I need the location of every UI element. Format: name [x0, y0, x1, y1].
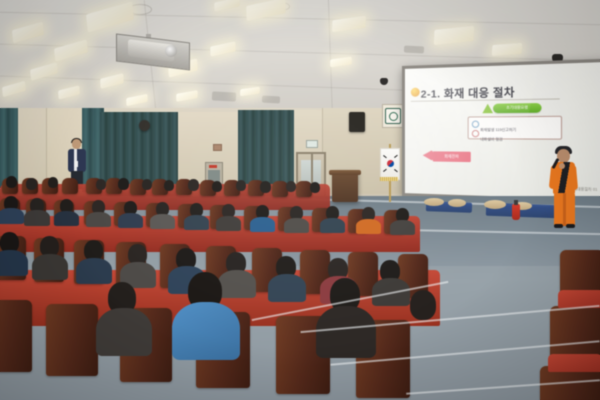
ceiling-spotlight: [380, 78, 388, 85]
ceiling-light-panel: [176, 90, 198, 102]
slide-bullet-box: 화재발생 119신고하기 내화설비 점검: [468, 116, 562, 140]
wall-outlet: [213, 144, 222, 151]
ceiling-light-panel: [58, 85, 80, 99]
ceiling-light-panel: [434, 26, 474, 45]
slide-bullet-item: 내화설비 점검: [469, 127, 561, 137]
slide-bullet-icon: [411, 88, 420, 97]
cpr-manikin: [484, 200, 506, 209]
attendee-torso: [316, 306, 376, 358]
korean-flag-icon: [380, 148, 400, 180]
attendee-torso: [96, 308, 152, 356]
ceiling-light-panel: [2, 81, 26, 98]
bullet-dot-icon: [472, 130, 479, 137]
ceiling-light-panel: [240, 87, 260, 97]
wall-speaker: [139, 120, 150, 131]
presenter-shoe: [554, 224, 563, 228]
taeguk-symbol-icon: [387, 160, 394, 167]
ceiling-light-panel: [126, 94, 148, 107]
presenter-hand: [559, 163, 565, 169]
extinguisher-nozzle-icon: [514, 200, 518, 205]
seating-right-block: [430, 250, 600, 400]
flag-fringe: [380, 177, 398, 181]
ceiling-light-panel: [100, 73, 124, 89]
ceiling-projector: [116, 34, 188, 68]
fire-extinguisher: [512, 204, 520, 220]
slide-bullet-text: 내화설비 점검: [480, 137, 502, 141]
attendee-torso: [172, 302, 240, 360]
presenter-uniform-legs: [554, 193, 575, 226]
slide-green-label-text: 초기대응요령: [493, 103, 541, 113]
ceiling-light-panel: [214, 0, 240, 12]
ceiling-light-panel: [210, 41, 236, 57]
arrow-callout-body: 화재전파: [433, 151, 471, 162]
arrow-callout-text: 화재전파: [433, 151, 471, 162]
auditorium-photo: 2 2-1. 화재 대응 절차 초기대응요령 화재발생 119신고하기 내화설비…: [0, 0, 600, 400]
ceiling-light-panel: [330, 56, 352, 67]
presenter-head: [557, 149, 570, 163]
warning-triangle-icon: [482, 104, 493, 114]
wall-speaker: [349, 112, 365, 132]
institution-emblem-icon: [385, 108, 401, 124]
presenter-right-arm: [569, 165, 578, 191]
presenter-firefighter: [548, 143, 582, 229]
staff-head: [72, 139, 81, 149]
exit-sign: [306, 140, 318, 148]
ceiling-light-panel: [86, 1, 134, 32]
ceiling-light-panel: [12, 22, 44, 44]
slide-green-label: 초기대응요령: [493, 103, 541, 113]
ceiling-light-panel: [54, 39, 88, 61]
presenter-shoe: [566, 224, 575, 228]
slide-bullet-item: 화재발생 119신고하기: [469, 117, 561, 127]
cpr-manikin: [448, 199, 466, 207]
projector-lens: [165, 45, 177, 57]
audience-foreground: [0, 268, 440, 400]
ceiling-light-panel: [492, 43, 523, 56]
slide-arrow-callout: 화재전파: [423, 149, 472, 163]
